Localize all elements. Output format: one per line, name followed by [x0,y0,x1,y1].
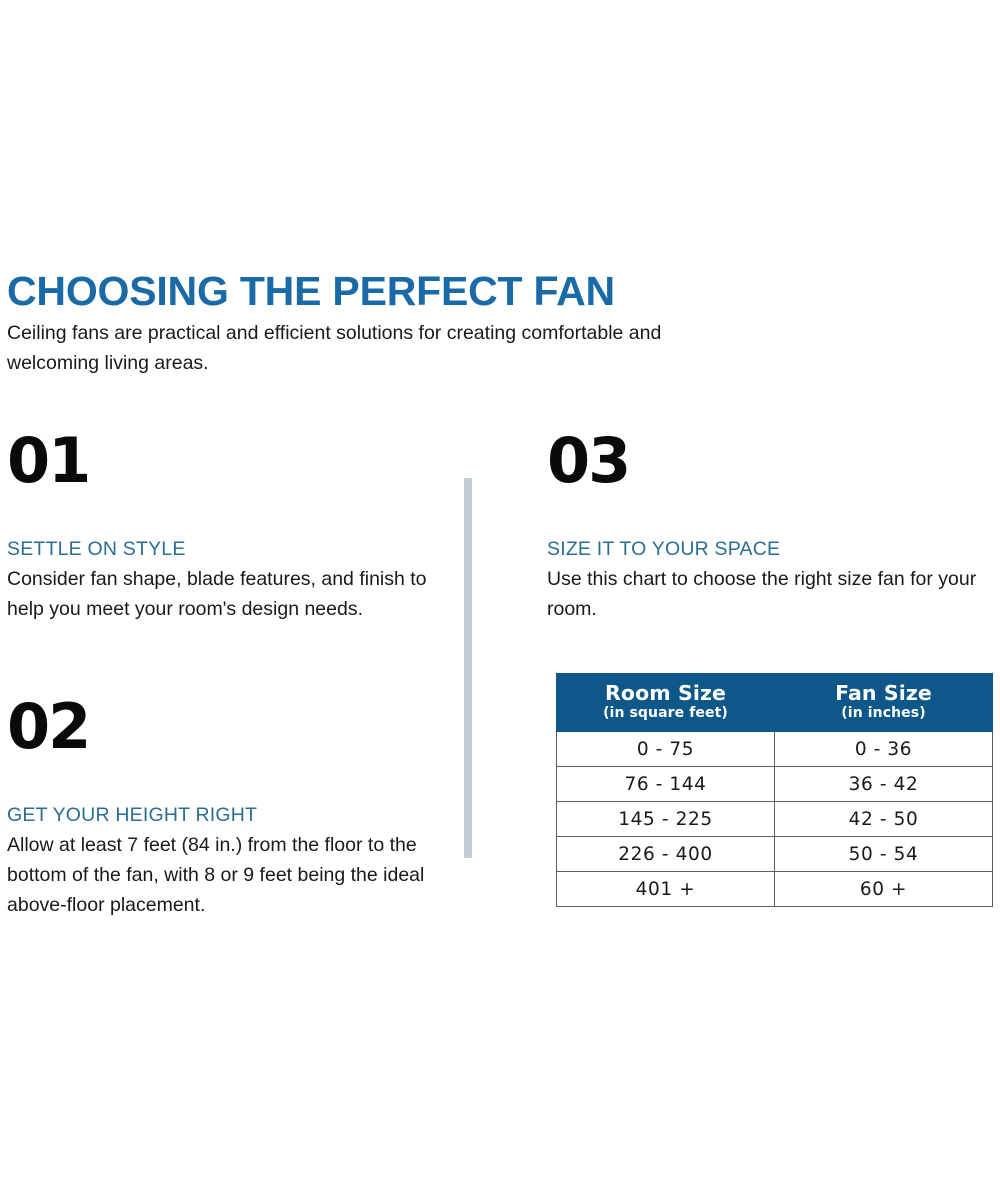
step-text-03: SIZE IT TO YOUR SPACE Use this chart to … [547,537,997,624]
step-number-03: 03 [547,430,997,492]
header-room-size-sub: (in square feet) [557,705,774,722]
step-item-03: 03 SIZE IT TO YOUR SPACE Use this chart … [547,430,997,624]
table-row: 226 - 400 50 - 54 [557,837,993,872]
left-column: 01 SETTLE ON STYLE Consider fan shape, b… [7,430,427,920]
step-item-01: 01 SETTLE ON STYLE Consider fan shape, b… [7,430,427,624]
step-body-03: Use this chart to choose the right size … [547,564,997,624]
step-text-02: GET YOUR HEIGHT RIGHT Allow at least 7 f… [7,803,427,920]
cell-fan-size: 36 - 42 [775,767,993,802]
table-header-fan-size: Fan Size (in inches) [775,674,993,732]
step-body-02: Allow at least 7 feet (84 in.) from the … [7,830,427,920]
table-head: Room Size (in square feet) Fan Size (in … [557,674,993,732]
header-fan-size-main: Fan Size [775,682,992,705]
step-heading-03: SIZE IT TO YOUR SPACE [547,537,997,561]
step-heading-01: SETTLE ON STYLE [7,537,427,561]
table-row: 145 - 225 42 - 50 [557,802,993,837]
step-number-02: 02 [7,696,427,758]
cell-room-size: 76 - 144 [557,767,775,802]
table-header-row: Room Size (in square feet) Fan Size (in … [557,674,993,732]
table-body: 0 - 75 0 - 36 76 - 144 36 - 42 145 - 225… [557,732,993,907]
cell-room-size: 226 - 400 [557,837,775,872]
intro-paragraph: Ceiling fans are practical and efficient… [7,318,697,378]
cell-fan-size: 0 - 36 [775,732,993,767]
cell-fan-size: 50 - 54 [775,837,993,872]
header-fan-size-sub: (in inches) [775,705,992,722]
step-text-01: SETTLE ON STYLE Consider fan shape, blad… [7,537,427,624]
cell-fan-size: 60 + [775,872,993,907]
step-body-01: Consider fan shape, blade features, and … [7,564,427,624]
right-column: 03 SIZE IT TO YOUR SPACE Use this chart … [547,430,997,624]
page-title: CHOOSING THE PERFECT FAN [7,268,707,314]
cell-room-size: 401 + [557,872,775,907]
table-row: 76 - 144 36 - 42 [557,767,993,802]
step-item-02: 02 GET YOUR HEIGHT RIGHT Allow at least … [7,696,427,920]
table-row: 0 - 75 0 - 36 [557,732,993,767]
table-header-room-size: Room Size (in square feet) [557,674,775,732]
infographic-page: CHOOSING THE PERFECT FAN Ceiling fans ar… [0,0,1000,1200]
fan-size-table: Room Size (in square feet) Fan Size (in … [556,673,993,907]
header-room-size-main: Room Size [557,682,774,705]
column-divider [464,478,472,858]
step-number-01: 01 [7,430,427,492]
step-heading-02: GET YOUR HEIGHT RIGHT [7,803,427,827]
cell-fan-size: 42 - 50 [775,802,993,837]
cell-room-size: 0 - 75 [557,732,775,767]
header-block: CHOOSING THE PERFECT FAN Ceiling fans ar… [7,268,707,378]
cell-room-size: 145 - 225 [557,802,775,837]
table-row: 401 + 60 + [557,872,993,907]
